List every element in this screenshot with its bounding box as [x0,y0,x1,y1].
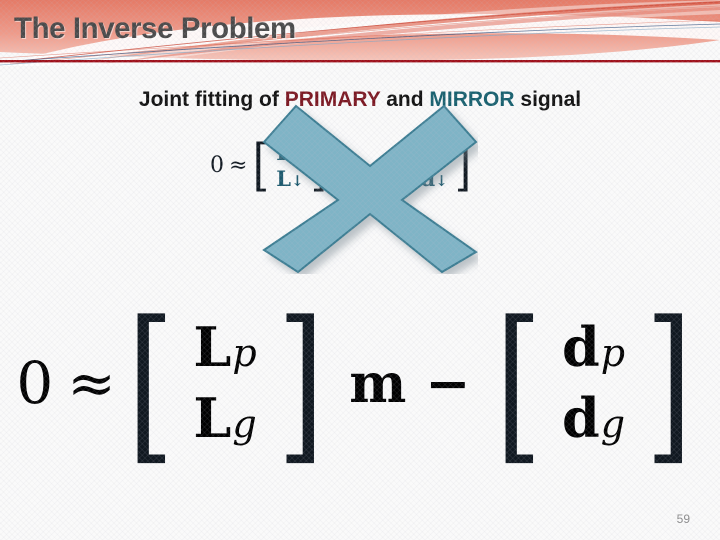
eq-small-approx: ≈ [229,155,247,177]
eq-large-left-matrix-column: Lp Lg [183,312,267,455]
eq-large-right-matrix-row1: dp [562,312,626,383]
slide: The Inverse Problem Joint fitting of PRI… [0,0,720,540]
eq-large-right-matrix-close-bracket: ] [645,306,692,461]
page-title: The Inverse Problem [14,12,296,46]
eq-large-zero: 0 [16,349,53,417]
equation-large: 0 ≈ [ Lp Lg ] m − [ dp dg ] [0,306,720,461]
eq-large-left-matrix-row1: Lp [193,312,257,383]
eq-large-right-matrix-open-bracket: [ [496,306,543,461]
eq-large-left-matrix-close-bracket: ] [277,306,324,461]
eq-large-right-matrix-row2: dg [562,383,626,454]
eq-small-zero: 0 [210,155,224,177]
eq-large-left-matrix-open-bracket: [ [127,306,174,461]
page-number: 59 [677,512,690,526]
subtitle-part3: signal [515,88,582,111]
eq-large-right-matrix-column: dp dg [552,312,636,455]
cross-out-x-shape[interactable] [262,104,478,274]
eq-large-left-matrix: [ Lp Lg ] [118,306,333,461]
eq-large-approx: ≈ [67,349,116,417]
x-mark-icon [262,104,478,274]
eq-large-left-matrix-row2: Lg [193,383,257,454]
eq-large-middle-operator: m − [349,351,470,415]
eq-large-right-matrix: [ dp dg ] [486,306,701,461]
